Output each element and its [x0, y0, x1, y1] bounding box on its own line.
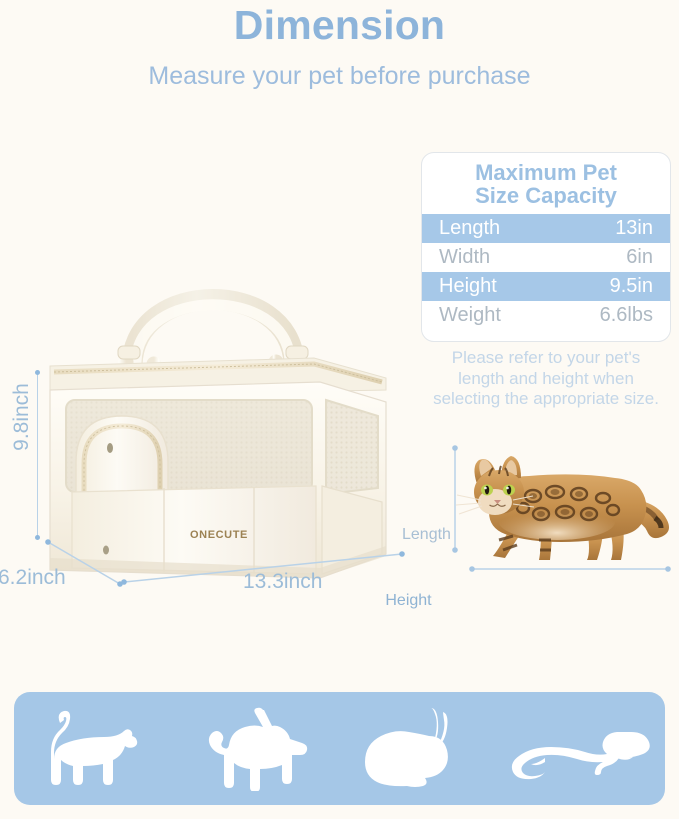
infographic-page: Dimension Measure your pet before purcha… — [0, 0, 679, 819]
lizard-silhouette-icon — [505, 714, 655, 784]
page-title: Dimension — [0, 2, 679, 49]
spec-card-heading: Maximum Pet Size Capacity — [422, 153, 670, 214]
spec-heading-line1: Maximum Pet — [428, 162, 664, 185]
rabbit-silhouette-icon — [345, 706, 485, 791]
product-photo: ONECUTE — [14, 150, 414, 590]
note-line1: Please refer to your pet's — [412, 348, 679, 369]
spec-label-width: Width — [439, 246, 490, 269]
bag-depth-label: 6.2inch — [0, 566, 66, 590]
cat-silhouette-icon — [24, 709, 164, 789]
spec-row-weight: Weight 6.6lbs — [422, 301, 670, 330]
supported-pets-banner — [14, 692, 665, 805]
spec-value-width: 6in — [626, 246, 653, 269]
note-line3: selecting the appropriate size. — [412, 389, 679, 410]
spec-label-length: Length — [439, 217, 500, 240]
height-dimension-line — [37, 372, 38, 538]
note-line2: length and height when — [412, 369, 679, 390]
spec-row-height: Height 9.5in — [422, 272, 670, 301]
spec-value-height: 9.5in — [610, 275, 653, 298]
dog-silhouette-icon — [184, 706, 324, 791]
size-advice-note: Please refer to your pet's length and he… — [412, 348, 679, 410]
spec-value-weight: 6.6lbs — [600, 304, 653, 327]
spec-row-length: Length 13in — [422, 214, 670, 243]
pet-length-label: Length — [402, 526, 451, 544]
pet-height-label-text: Height — [385, 592, 431, 609]
spec-value-length: 13in — [615, 217, 653, 240]
spec-label-height: Height — [439, 275, 497, 298]
spec-heading-line2: Size Capacity — [428, 185, 664, 208]
pet-height-dimension-line — [466, 562, 676, 576]
page-subtitle: Measure your pet before purchase — [0, 62, 679, 91]
pet-height-label: Height — [0, 592, 679, 610]
brand-label: ONECUTE — [190, 529, 248, 541]
bag-height-label: 9.8inch — [10, 367, 34, 467]
spec-row-width: Width 6in — [422, 243, 670, 272]
height-line-top-dot — [35, 370, 40, 375]
pet-carrier-bag-image: ONECUTE — [14, 150, 414, 590]
pet-photo — [437, 440, 679, 565]
spec-card: Maximum Pet Size Capacity Length 13in Wi… — [421, 152, 671, 342]
bag-width-label: 13.3inch — [243, 570, 322, 594]
spec-label-weight: Weight — [439, 304, 501, 327]
bengal-cat-image — [437, 440, 679, 565]
